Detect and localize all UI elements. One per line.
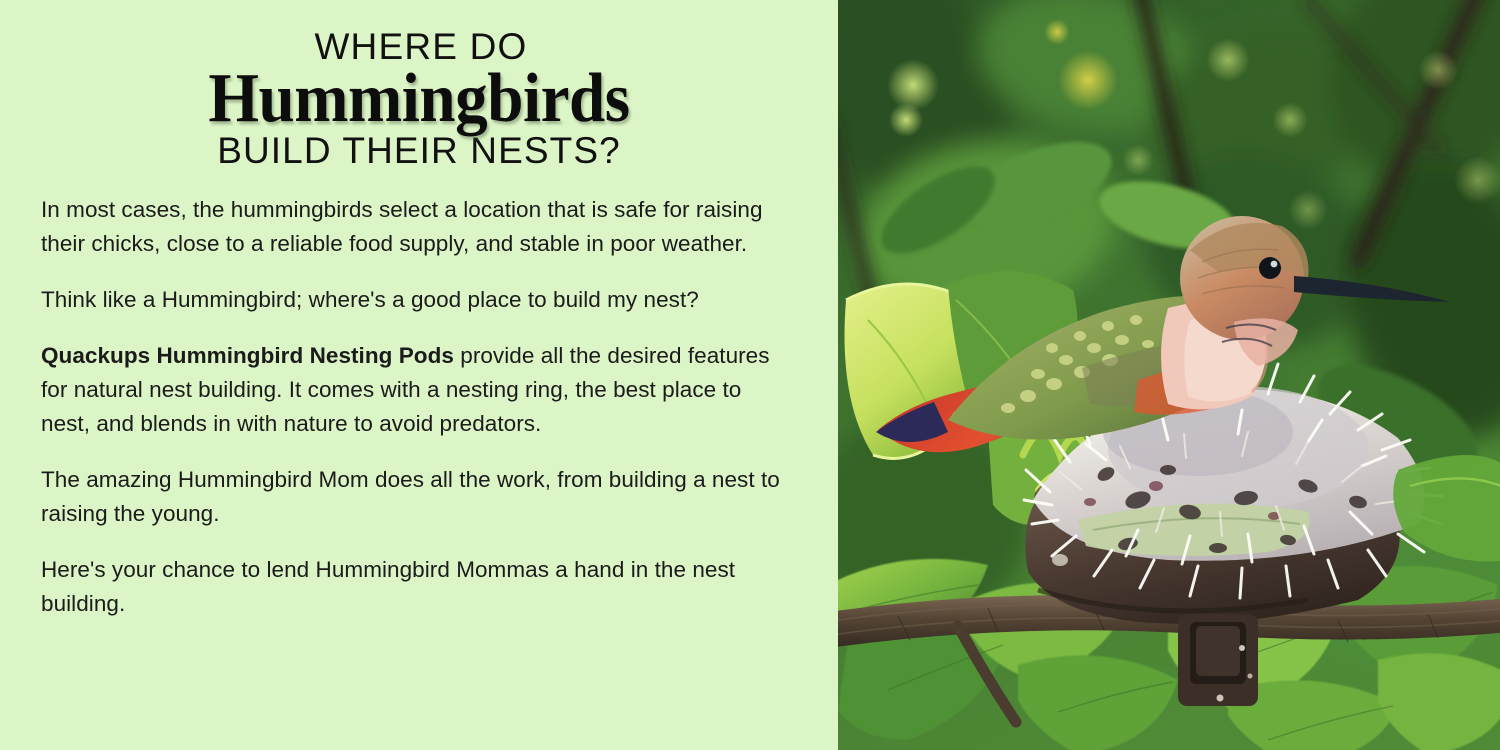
hummingbird-nest-illustration [838, 0, 1500, 750]
paragraph-5: Here's your chance to lend Hummingbird M… [41, 553, 790, 621]
heading-line-2: Hummingbirds [29, 63, 808, 134]
promo-banner: WHERE DO Hummingbirds BUILD THEIR NESTS?… [0, 0, 1500, 750]
paragraph-4: The amazing Hummingbird Mom does all the… [41, 463, 790, 531]
hummingbird-photo [838, 0, 1500, 750]
text-panel: WHERE DO Hummingbirds BUILD THEIR NESTS?… [0, 0, 838, 750]
paragraph-2: Think like a Hummingbird; where's a good… [41, 283, 790, 317]
mounting-bracket [1178, 614, 1258, 706]
product-name: Quackups Hummingbird Nesting Pods [41, 343, 454, 368]
paragraph-1: In most cases, the hummingbirds select a… [41, 193, 790, 261]
bird-eye [1259, 257, 1281, 279]
body-copy: In most cases, the hummingbirds select a… [0, 171, 838, 621]
heading-line-3: BUILD THEIR NESTS? [0, 132, 838, 171]
paragraph-3: Quackups Hummingbird Nesting Pods provid… [41, 339, 790, 441]
heading-block: WHERE DO Hummingbirds BUILD THEIR NESTS? [0, 0, 838, 171]
